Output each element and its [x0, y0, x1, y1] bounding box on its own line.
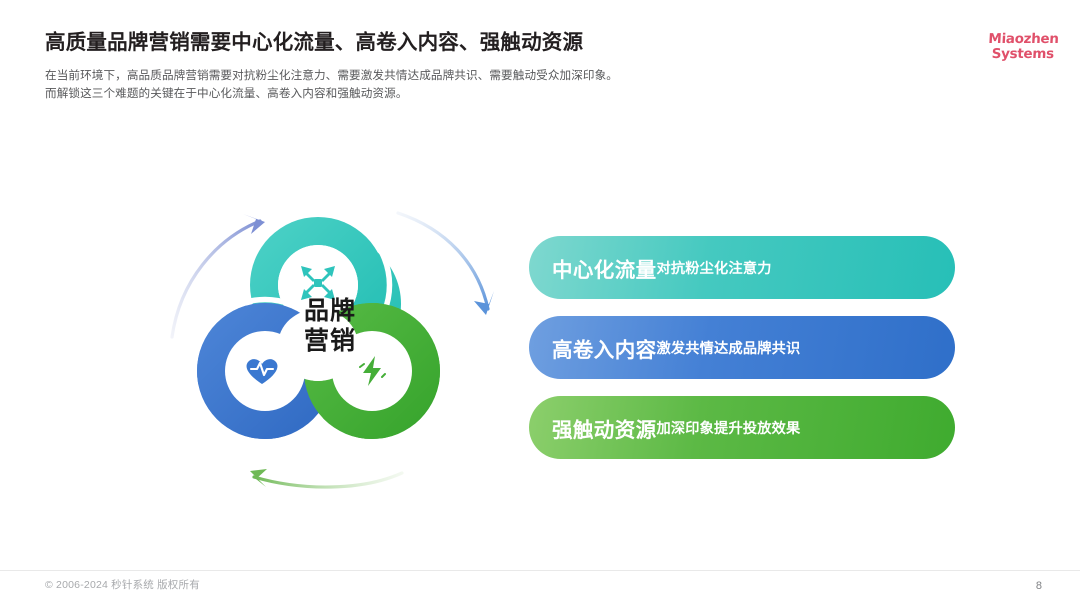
- page-subtitle: 在当前环境下，高品质品牌营销需要对抗粉尘化注意力、需要激发共情达成品牌共识、需要…: [45, 67, 785, 105]
- page-title: 高质量品牌营销需要中心化流量、高卷入内容、强触动资源: [45, 30, 785, 56]
- logo-line-2: Systems: [987, 47, 1058, 62]
- footer-copyright: © 2006-2024 秒针系统 版权所有: [45, 577, 200, 592]
- key-points-list: 中心化流量对抗粉尘化注意力 高卷入内容激发共情达成品牌共识 强触动资源加深印象提…: [529, 236, 955, 459]
- footer-page-number: 8: [1036, 580, 1042, 592]
- bar-2-sub-text: 激发共情达成品牌共识: [657, 338, 801, 358]
- bar-centralized-traffic[interactable]: 中心化流量对抗粉尘化注意力: [529, 236, 955, 299]
- miaozhen-systems-logo: Miaozhen Systems: [987, 32, 1059, 61]
- bar-high-involvement-content[interactable]: 高卷入内容激发共情达成品牌共识: [529, 316, 955, 379]
- footer-divider: [0, 570, 1080, 571]
- bar-3-strong-text: 强触动资源: [552, 413, 657, 443]
- bar-3-sub-text: 加深印象提升投放效果: [657, 418, 801, 438]
- arrow-right: [398, 213, 494, 315]
- arrow-bottom: [250, 469, 402, 487]
- slide-header: 高质量品牌营销需要中心化流量、高卷入内容、强触动资源 在当前环境下，高品质品牌营…: [45, 30, 785, 104]
- brand-marketing-venn-diagram: 品牌 营销: [150, 185, 510, 505]
- bar-strong-impact-resource[interactable]: 强触动资源加深印象提升投放效果: [529, 396, 955, 459]
- page-subtitle-line-1: 在当前环境下，高品质品牌营销需要对抗粉尘化注意力、需要激发共情达成品牌共识、需要…: [45, 67, 785, 86]
- venn-center-plate: [278, 309, 358, 381]
- bar-2-strong-text: 高卷入内容: [552, 333, 657, 363]
- page-subtitle-line-2: 而解锁这三个难题的关键在于中心化流量、高卷入内容和强触动资源。: [45, 85, 785, 104]
- venn-diagram-svg: [150, 185, 510, 505]
- slide-canvas: 高质量品牌营销需要中心化流量、高卷入内容、强触动资源 在当前环境下，高品质品牌营…: [0, 0, 1080, 608]
- logo-line-1: Miaozhen: [988, 32, 1059, 47]
- bar-1-sub-text: 对抗粉尘化注意力: [657, 258, 772, 278]
- bar-1-strong-text: 中心化流量: [552, 253, 657, 283]
